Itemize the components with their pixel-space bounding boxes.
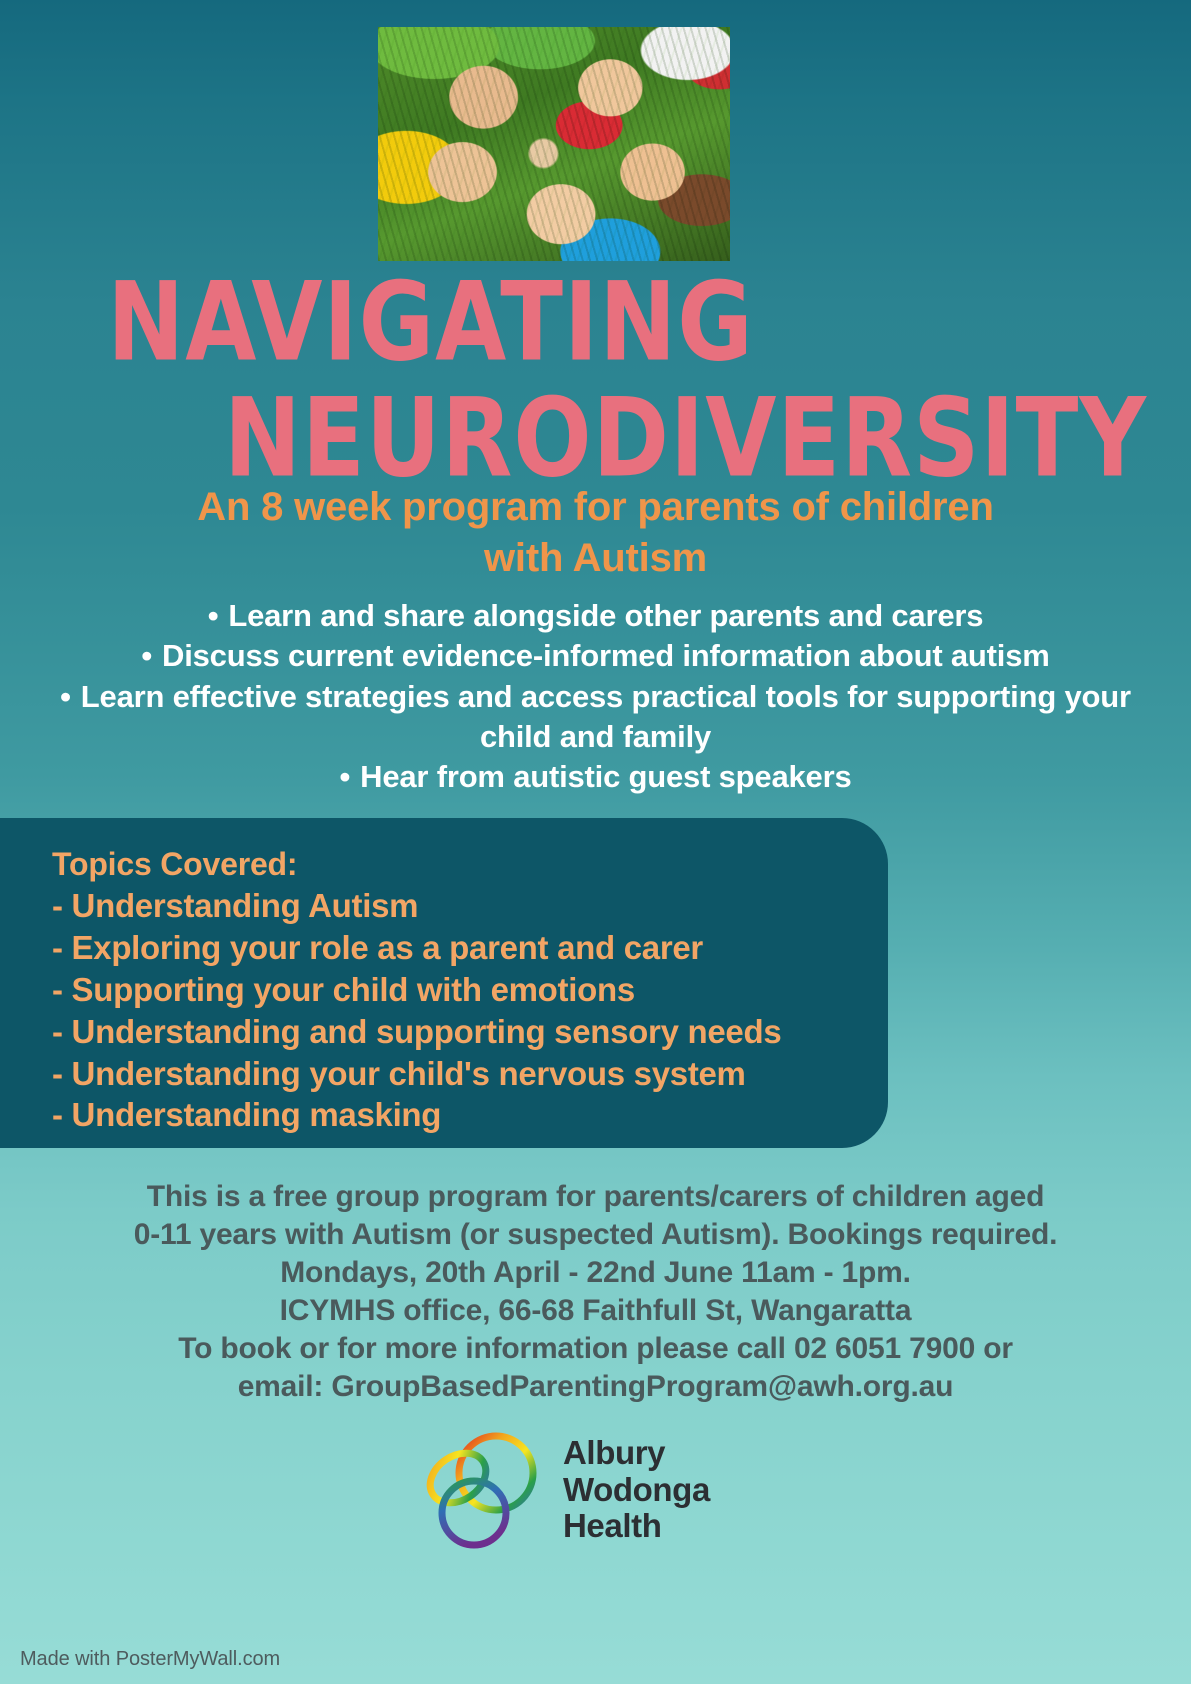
contact-line-5: To book or for more information please c… [45, 1330, 1146, 1368]
poster-subtitle: An 8 week program for parents of childre… [95, 482, 1096, 584]
list-item: - Supporting your child with emotions [52, 969, 888, 1011]
bullet-text: Discuss current evidence-informed inform… [162, 638, 1050, 673]
list-item: - Understanding and supporting sensory n… [52, 1011, 888, 1053]
bullet-text: Learn effective strategies and access pr… [81, 679, 1131, 754]
topics-covered-panel: Topics Covered: - Understanding Autism -… [0, 818, 888, 1148]
logo-name-line-2: Wodonga [563, 1472, 710, 1509]
list-item: - Understanding your child's nervous sys… [52, 1053, 888, 1095]
logo-wordmark: Albury Wodonga Health [563, 1435, 710, 1546]
bullet-dot-icon: • [340, 757, 351, 797]
list-item: •Hear from autistic guest speakers [40, 757, 1151, 797]
organisation-logo: Albury Wodonga Health [414, 1425, 784, 1555]
contact-line-6: email: GroupBasedParentingProgram@awh.or… [45, 1368, 1146, 1406]
contact-line-2: 0-11 years with Autism (or suspected Aut… [45, 1216, 1146, 1254]
subtitle-line-2: with Autism [95, 533, 1096, 584]
bullet-dot-icon: • [60, 677, 71, 717]
postermywall-watermark: Made with PosterMyWall.com [20, 1648, 280, 1671]
list-item: - Exploring your role as a parent and ca… [52, 927, 888, 969]
logo-name-line-1: Albury [563, 1435, 710, 1472]
title-line-1: NAVIGATING [0, 272, 861, 374]
bullet-text: Learn and share alongside other parents … [228, 598, 983, 633]
list-item: - Understanding Autism [52, 885, 888, 927]
subtitle-line-1: An 8 week program for parents of childre… [95, 482, 1096, 533]
contact-details: This is a free group program for parents… [45, 1178, 1146, 1407]
contact-line-1: This is a free group program for parents… [45, 1178, 1146, 1216]
title-line-2: NEURODIVERSITY [180, 388, 1191, 490]
list-item: - Understanding masking [52, 1094, 888, 1136]
bullet-dot-icon: • [141, 636, 152, 676]
albury-wodonga-health-rings-icon [414, 1428, 549, 1553]
topics-heading: Topics Covered: [52, 844, 888, 885]
program-benefits-list: •Learn and share alongside other parents… [40, 596, 1151, 797]
list-item: •Discuss current evidence-informed infor… [40, 636, 1151, 676]
children-photo-image [378, 27, 730, 261]
list-item: •Learn effective strategies and access p… [40, 677, 1151, 758]
header-photo [378, 27, 730, 261]
bullet-text: Hear from autistic guest speakers [360, 759, 851, 794]
topics-list: - Understanding Autism - Exploring your … [52, 885, 888, 1136]
contact-line-3: Mondays, 20th April - 22nd June 11am - 1… [45, 1254, 1146, 1292]
logo-name-line-3: Health [563, 1508, 710, 1545]
poster-title: NAVIGATING NEURODIVERSITY [0, 272, 1191, 475]
bullet-dot-icon: • [208, 596, 219, 636]
list-item: •Learn and share alongside other parents… [40, 596, 1151, 636]
contact-line-4: ICYMHS office, 66-68 Faithfull St, Wanga… [45, 1292, 1146, 1330]
poster-canvas: NAVIGATING NEURODIVERSITY An 8 week prog… [0, 0, 1191, 1684]
